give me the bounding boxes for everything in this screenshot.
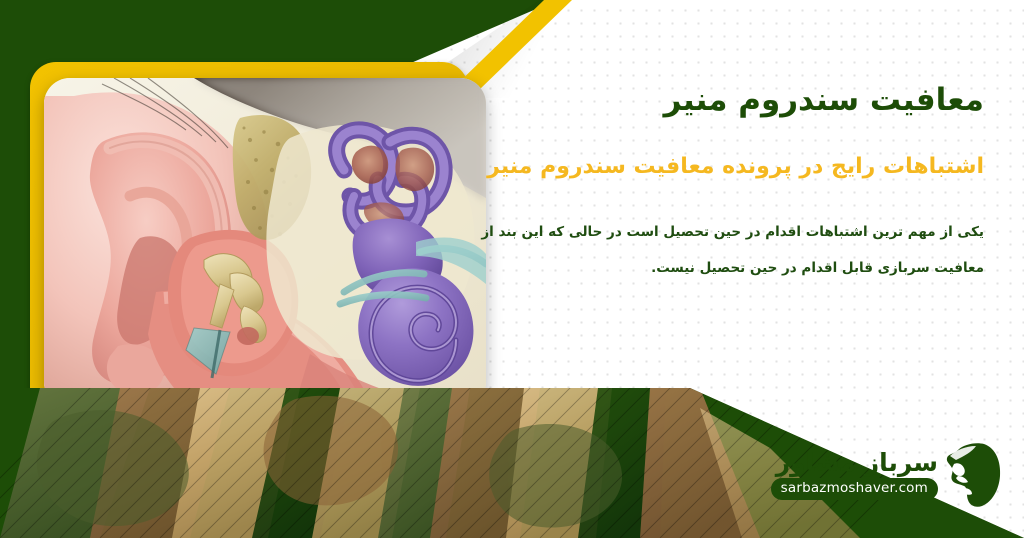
body-line-2: معافیت سربازی قابل اقدام در حین تحصیل نی… <box>454 251 984 287</box>
logo-brand-text: سرباز مشاور <box>776 450 938 475</box>
page-title: معافیت سندروم منیر <box>424 80 984 122</box>
ear-anatomy-illustration <box>44 78 486 408</box>
body-line-1: یکی از مهم ترین اشتباهات اقدام در حین تح… <box>454 215 984 251</box>
ear-anatomy-card <box>44 78 486 408</box>
soldier-head-icon <box>944 442 1002 508</box>
page-subtitle: اشتباهات رایج در پرونده معافیت سندروم من… <box>424 150 984 183</box>
body-copy: یکی از مهم ترین اشتباهات اقدام در حین تح… <box>454 215 984 287</box>
logo-wordmark: سرباز مشاور sarbazmoshaver.com <box>771 450 938 500</box>
site-logo[interactable]: سرباز مشاور sarbazmoshaver.com <box>771 442 1002 508</box>
banner-stage: معافیت سندروم منیر اشتباهات رایج در پرون… <box>0 0 1024 538</box>
logo-domain-pill: sarbazmoshaver.com <box>771 478 938 500</box>
